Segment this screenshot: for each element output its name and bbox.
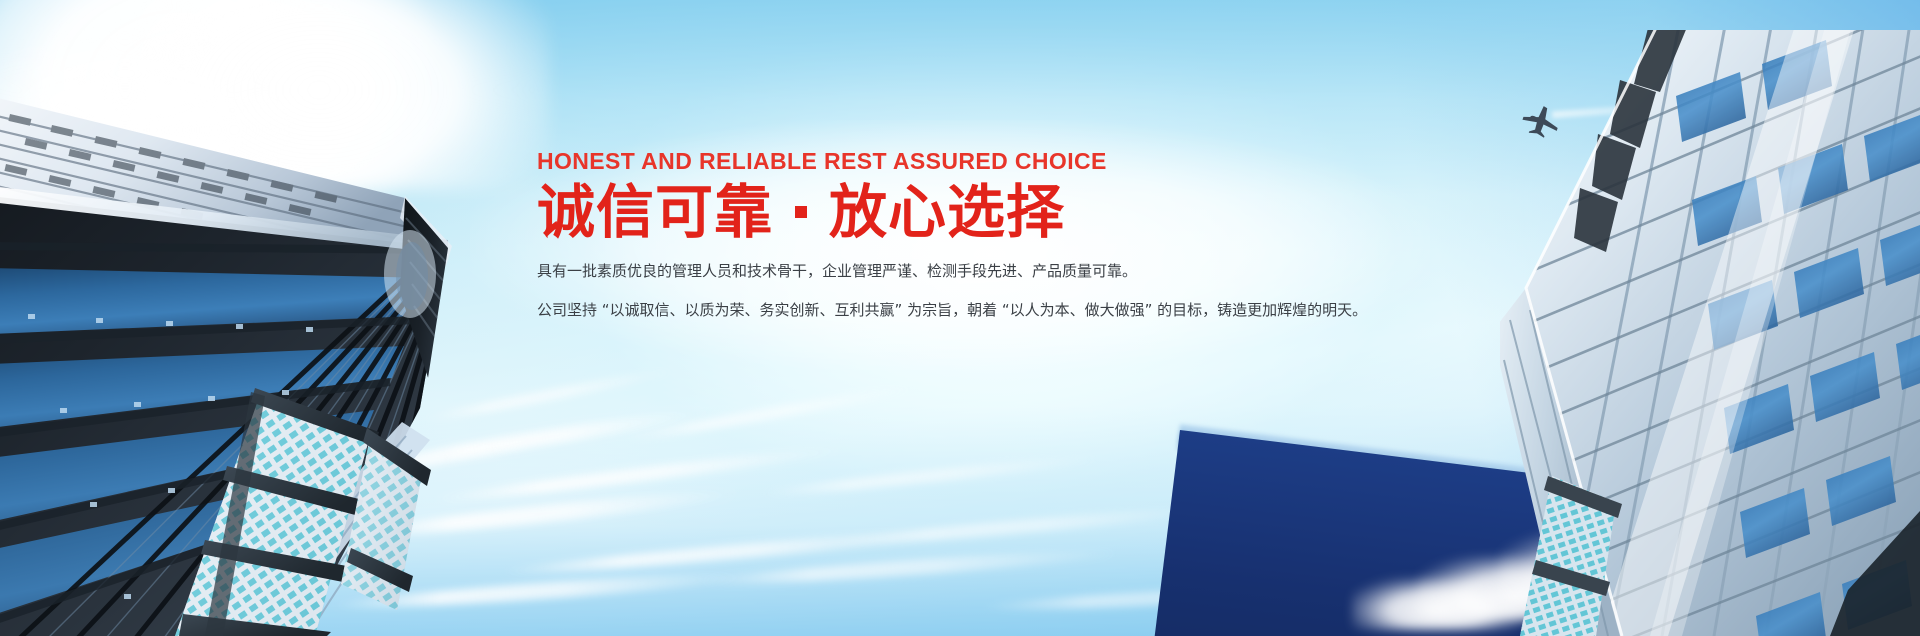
hero-banner: HONEST AND RELIABLE REST ASSURED CHOICE … xyxy=(0,0,1920,636)
banner-copy: HONEST AND RELIABLE REST ASSURED CHOICE … xyxy=(537,150,1357,337)
right-foreground-block xyxy=(1500,476,1650,636)
cumulus-cloud-icon xyxy=(1352,578,1522,630)
banner-headline: 诚信可靠 放心选择 xyxy=(537,182,1357,243)
banner-body-line-1: 具有一批素质优良的管理人员和技术骨干，企业管理严谨、检测手段先进、产品质量可靠。 xyxy=(537,259,1357,283)
banner-eyebrow: HONEST AND RELIABLE REST ASSURED CHOICE xyxy=(537,150,1357,173)
headline-right-text: 放心选择 xyxy=(829,182,1065,243)
headline-left-text: 诚信可靠 xyxy=(537,182,773,243)
headline-separator-dot xyxy=(795,206,807,218)
banner-body-line-2: 公司坚持 “以诚取信、以质为荣、务实创新、互利共赢” 为宗旨，朝着 “以人为本、… xyxy=(537,298,1357,322)
left-secondary-tower xyxy=(165,370,495,636)
